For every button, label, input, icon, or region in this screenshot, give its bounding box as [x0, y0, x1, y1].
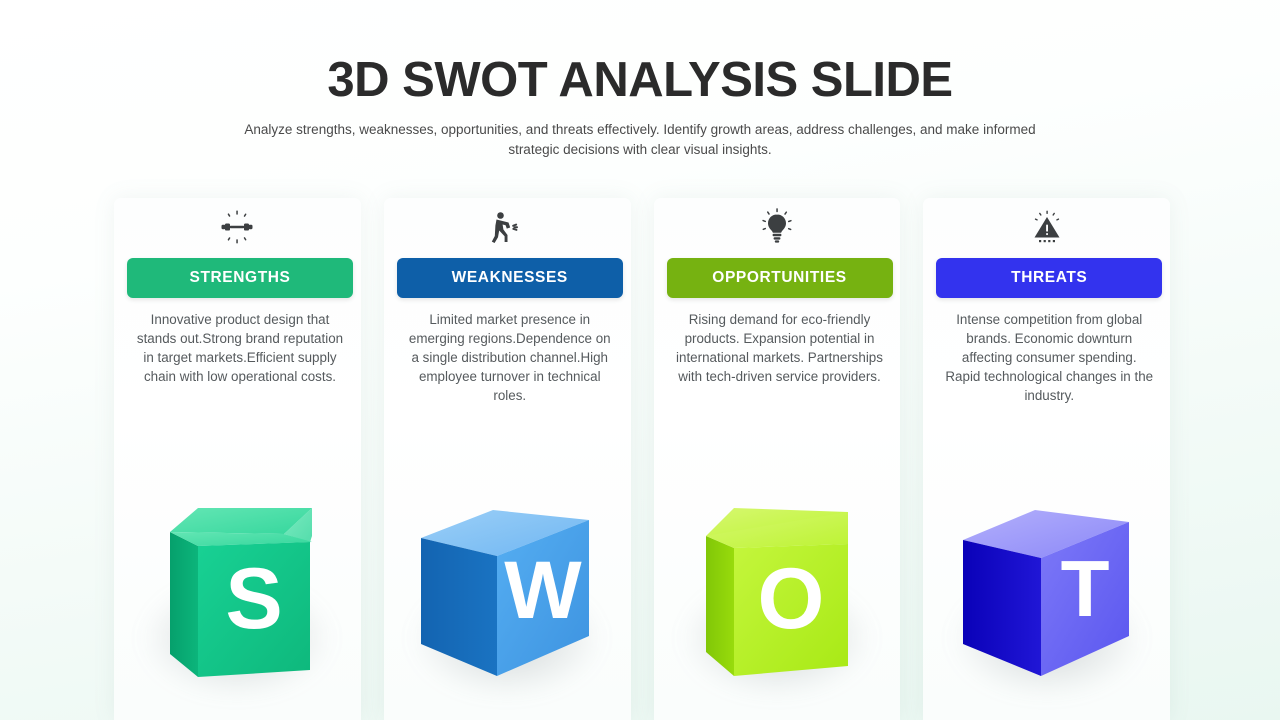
cube-stage-weaknesses: W — [384, 480, 631, 720]
cube-s: S — [152, 494, 322, 679]
pill-strengths[interactable]: STRENGTHS — [127, 258, 353, 298]
pill-label: STRENGTHS — [190, 269, 291, 287]
cube-stage-opportunities: O — [654, 480, 901, 720]
cube-letter-t: T — [1060, 544, 1109, 633]
cube-stage-threats: T — [923, 480, 1170, 720]
pill-label: THREATS — [1011, 269, 1087, 287]
card-text-opportunities: Rising demand for eco-friendly products.… — [676, 310, 884, 386]
card-text-threats: Intense competition from global brands. … — [945, 310, 1153, 405]
pill-threats[interactable]: THREATS — [936, 258, 1162, 298]
card-text-strengths: Innovative product design that stands ou… — [136, 310, 344, 386]
cube-letter-s: S — [226, 551, 283, 647]
swot-card-opportunities[interactable]: OPPORTUNITIES Rising demand for eco-frie… — [654, 198, 901, 720]
pill-weaknesses[interactable]: WEAKNESSES — [397, 258, 623, 298]
cube-letter-o: O — [757, 551, 824, 647]
swot-card-weaknesses[interactable]: WEAKNESSES Limited market presence in em… — [384, 198, 631, 720]
cube-w: W — [417, 494, 597, 679]
dumbbell-icon — [114, 204, 361, 250]
page-subtitle: Analyze strengths, weaknesses, opportuni… — [240, 120, 1040, 160]
lightbulb-icon — [654, 204, 901, 250]
page-title: 3D SWOT ANALYSIS SLIDE — [0, 52, 1280, 108]
swot-card-strengths[interactable]: STRENGTHS Innovative product design that… — [114, 198, 361, 720]
pill-label: OPPORTUNITIES — [712, 269, 846, 287]
card-text-weaknesses: Limited market presence in emerging regi… — [406, 310, 614, 405]
warning-triangle-icon — [923, 204, 1170, 250]
pill-opportunities[interactable]: OPPORTUNITIES — [667, 258, 893, 298]
swot-cards-row: STRENGTHS Innovative product design that… — [114, 198, 1170, 720]
cube-t: T — [957, 494, 1137, 679]
swot-slide: 3D SWOT ANALYSIS SLIDE Analyze strengths… — [0, 0, 1280, 720]
back-pain-person-icon — [384, 204, 631, 250]
cube-o: O — [692, 494, 862, 679]
cube-letter-w: W — [504, 545, 582, 636]
pill-label: WEAKNESSES — [452, 269, 568, 287]
cube-stage-strengths: S — [114, 480, 361, 720]
swot-card-threats[interactable]: THREATS Intense competition from global … — [923, 198, 1170, 720]
